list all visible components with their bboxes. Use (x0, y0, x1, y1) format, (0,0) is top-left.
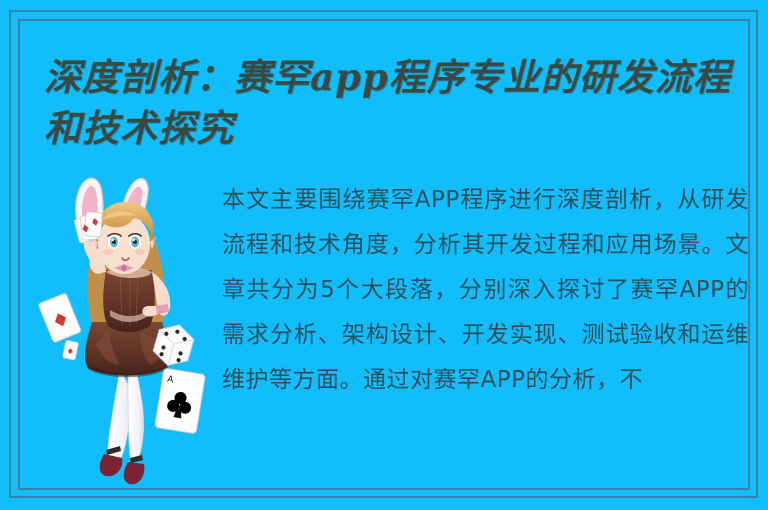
diamond-card (38, 293, 82, 343)
corset (103, 270, 155, 332)
ace-of-clubs-card: A (155, 368, 206, 434)
article-summary: 本文主要围绕赛罕APP程序进行深度剖析，从研发流程和技术角度，分析其开发过程和应… (222, 178, 749, 403)
legs (100, 368, 145, 484)
poster-canvas: 深度剖析：赛罕app程序专业的研发流程和技术探究 (0, 0, 768, 510)
small-card (62, 340, 78, 360)
bunny-girl-illustration: A (36, 172, 226, 490)
page-title: 深度剖析：赛罕app程序专业的研发流程和技术探究 (44, 52, 754, 154)
